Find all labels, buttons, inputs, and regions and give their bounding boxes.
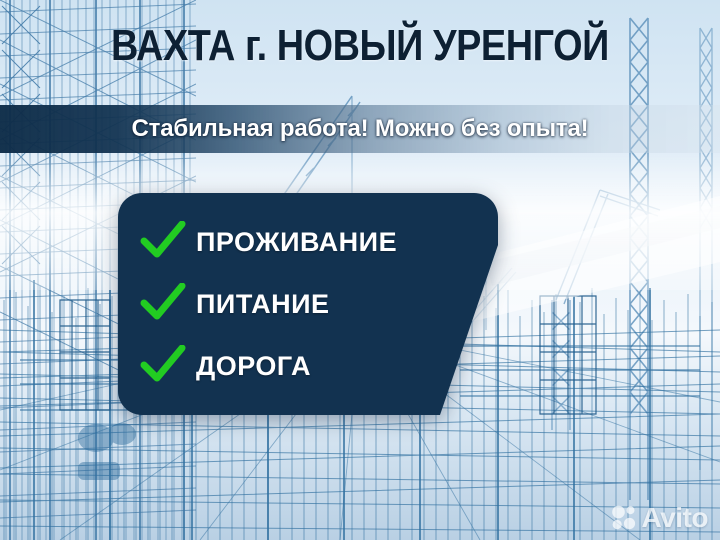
avito-wordmark: Avito: [642, 504, 708, 532]
features-list: ПРОЖИВАНИЕ ПИТАНИЕ ДОРОГА: [118, 193, 498, 415]
list-item: ПИТАНИЕ: [118, 273, 498, 335]
advertisement-banner: ВАХТА г. НОВЫЙ УРЕНГОЙ Стабильная работа…: [0, 0, 720, 540]
page-title: ВАХТА г. НОВЫЙ УРЕНГОЙ: [50, 24, 669, 68]
avito-dots-logo-icon: [611, 505, 637, 531]
list-item-label: ПРОЖИВАНИЕ: [196, 227, 397, 258]
list-item-label: ДОРОГА: [196, 351, 311, 382]
subtitle-text: Стабильная работа! Можно без опыта!: [0, 105, 720, 153]
check-icon: [140, 283, 186, 325]
check-icon: [140, 345, 186, 387]
avito-watermark: Avito: [611, 504, 708, 532]
list-item: ПРОЖИВАНИЕ: [118, 211, 498, 273]
list-item: ДОРОГА: [118, 335, 498, 397]
check-icon: [140, 221, 186, 263]
list-item-label: ПИТАНИЕ: [196, 289, 330, 320]
